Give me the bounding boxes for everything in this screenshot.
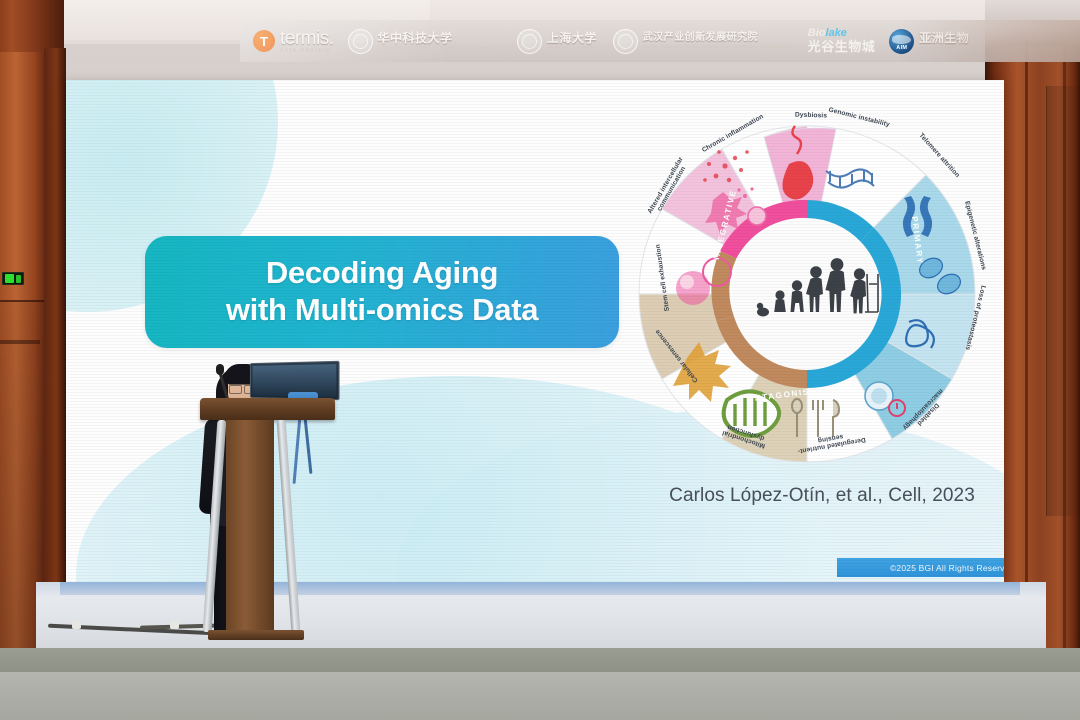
termis-sub: ASIA-PACIFIC	[280, 49, 334, 54]
termis-name: termis.	[280, 29, 334, 48]
hallmarks-of-aging-wheel: Genomic instability Telomere attrition E…	[621, 108, 993, 480]
slide-footer-bar: ©2025 BGI All Rights Reserved.	[837, 558, 1004, 577]
logo-biolake: Biolake 光谷生物城	[801, 28, 883, 53]
logo-shu: 上海大学 SHANGHAI UNIVERSITY	[510, 29, 606, 54]
microphone-icon	[216, 364, 224, 375]
exit-sign-icon	[2, 272, 24, 285]
slide-title-line1: Decoding Aging	[266, 256, 498, 291]
aim-name: 亚洲生物	[919, 32, 969, 45]
institute-seal-icon	[613, 29, 638, 54]
lectern-rail	[203, 420, 227, 632]
hust-sub: HUAZHONG UNIVERSITY OF SCIENCE AND TECHN…	[378, 46, 503, 50]
left-wall-trim	[44, 48, 66, 660]
logo-wiidd: 武汉产业创新发展研究院 WUHAN INSTITUTE OF INDUSTRIA…	[606, 29, 801, 54]
shu-name: 上海大学	[547, 32, 599, 45]
wiidd-name: 武汉产业创新发展研究院	[643, 33, 794, 44]
slide-title-plate: Decoding Aging with Multi-omics Data	[145, 236, 619, 348]
left-wall-door-line	[0, 340, 40, 344]
sponsor-banner: T termis. ASIA-PACIFIC 华中科技大学 HUAZHONG U…	[240, 20, 1080, 62]
logo-asia-biomaterials: 亚洲生物 Asia Biomaterials	[882, 29, 976, 54]
globe-icon	[889, 29, 914, 54]
lectern-body	[226, 420, 274, 632]
termis-mark-icon: T	[253, 30, 275, 52]
right-wall-seam	[1025, 40, 1028, 660]
slide-title-line2: with Multi-omics Data	[226, 293, 538, 328]
conference-scene: T termis. ASIA-PACIFIC 华中科技大学 HUAZHONG U…	[0, 0, 1080, 720]
wiidd-sub: WUHAN INSTITUTE OF INDUSTRIAL INNOVATION…	[643, 45, 794, 49]
slide-citation: Carlos López-Otín, et al., Cell, 2023	[642, 485, 1002, 507]
slide-footer-text: ©2025 BGI All Rights Reserved.	[890, 563, 1004, 573]
lectern-top	[200, 398, 335, 420]
room-floor	[0, 672, 1080, 720]
cable-clip	[170, 621, 179, 629]
hust-name: 华中科技大学	[378, 32, 503, 45]
logo-hust: 华中科技大学 HUAZHONG UNIVERSITY OF SCIENCE AN…	[341, 29, 510, 54]
shu-sub: SHANGHAI UNIVERSITY	[547, 46, 599, 50]
aim-sub: Asia Biomaterials	[919, 46, 969, 50]
university-seal-icon	[517, 29, 542, 54]
lectern-base	[208, 630, 304, 640]
university-seal-icon	[348, 29, 373, 54]
cable-clip	[72, 621, 81, 629]
biolake-name-cn: 光谷生物城	[808, 40, 876, 54]
logo-termis: T termis. ASIA-PACIFIC	[246, 29, 341, 54]
right-wall-inset	[1046, 86, 1080, 516]
lectern	[200, 398, 335, 648]
